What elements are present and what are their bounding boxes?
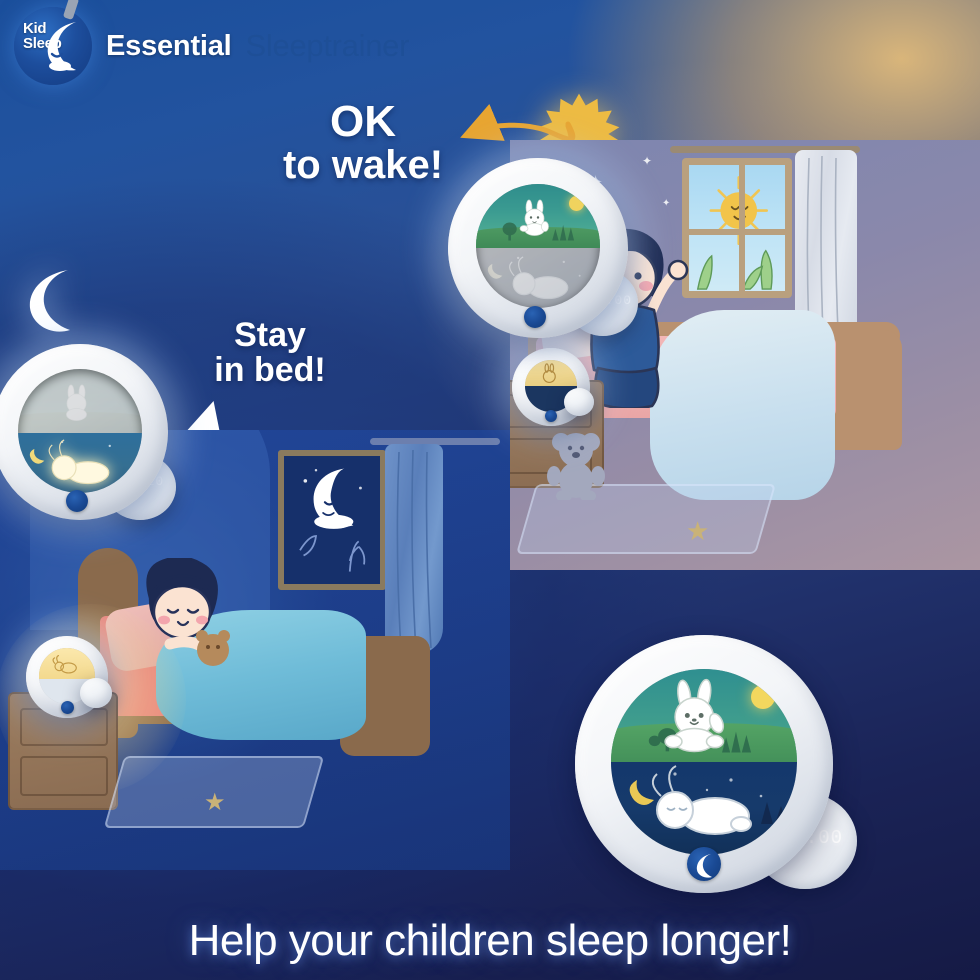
ok-to-wake-line-1: OK xyxy=(258,100,468,145)
sleeping-bunny-icon xyxy=(653,766,751,834)
screen-night-panel xyxy=(611,762,797,855)
kidsleep-logo-icon xyxy=(687,847,721,881)
crescent-moon-face-icon xyxy=(40,20,82,72)
screen-night-panel xyxy=(476,248,600,308)
moon-icon xyxy=(630,780,654,805)
screen-day-panel xyxy=(18,369,142,433)
device-screen xyxy=(18,369,142,493)
ok-to-wake-line-2: to wake! xyxy=(283,143,443,187)
brand-essential-label: Essential xyxy=(106,30,232,63)
product-name-label: Sleeptrainer xyxy=(246,28,410,64)
screen-night-panel xyxy=(18,433,142,493)
kidsleep-logo-icon xyxy=(66,490,88,512)
brand-header: Kid Sleep Essential Sleeptrainer xyxy=(0,0,980,92)
teddy-bear-toy xyxy=(546,428,606,500)
nightstand-device-night[interactable] xyxy=(26,636,108,718)
hero-product-device[interactable]: 08:00 xyxy=(575,635,840,895)
poster-canvas: Kid Sleep Essential Sleeptrainer xyxy=(0,0,980,980)
wake-mode-device[interactable]: 08:00 xyxy=(448,158,628,338)
device-screen xyxy=(611,669,797,855)
nightstand-device-morning[interactable] xyxy=(512,348,590,426)
awake-bunny-icon xyxy=(46,371,108,433)
moon-icon xyxy=(30,449,44,464)
sparkle-icon: ✦ xyxy=(642,154,652,168)
awake-bunny-icon xyxy=(504,186,566,248)
device-foot xyxy=(80,678,112,708)
moon-poster xyxy=(278,450,386,590)
screen-day-panel xyxy=(611,669,797,762)
kidsleep-logo-icon xyxy=(524,306,546,328)
sleeping-moon-face-icon xyxy=(314,468,354,528)
kidsleep-logo-icon xyxy=(61,701,74,714)
logo-nightcap-icon xyxy=(63,0,79,20)
stay-in-bed-callout: Stay in bed! xyxy=(180,318,360,387)
screen-day-panel xyxy=(476,184,600,248)
teddy-in-arms xyxy=(196,630,230,666)
moon-icon xyxy=(488,264,502,279)
sleeping-bunny-mini-icon xyxy=(39,654,95,678)
kidsleep-logo-icon xyxy=(545,410,557,422)
sleeping-bunny-icon xyxy=(49,440,109,484)
awake-bunny-mini-icon xyxy=(525,363,577,385)
sparkle-icon: ✦ xyxy=(662,198,670,209)
ok-to-wake-callout: OK to wake! xyxy=(258,100,468,186)
window-mullion xyxy=(739,165,745,291)
kidsleep-logo-badge: Kid Sleep xyxy=(14,7,92,85)
sleep-mode-device[interactable]: 0:20 xyxy=(0,344,168,520)
star-toy-morning: ★ xyxy=(686,516,709,547)
awake-bunny-icon xyxy=(649,671,741,763)
tagline: Help your children sleep longer! xyxy=(0,916,980,966)
device-screen xyxy=(476,184,600,308)
sleeping-bunny-icon xyxy=(510,257,568,299)
curtain-night xyxy=(385,444,443,654)
device-foot xyxy=(564,388,594,416)
drawer xyxy=(20,756,108,796)
star-toy-night: ★ xyxy=(204,788,226,817)
stay-in-bed-line-1: Stay xyxy=(180,318,360,353)
crescent-moon-icon xyxy=(16,266,78,336)
stay-in-bed-line-2: in bed! xyxy=(214,351,325,389)
